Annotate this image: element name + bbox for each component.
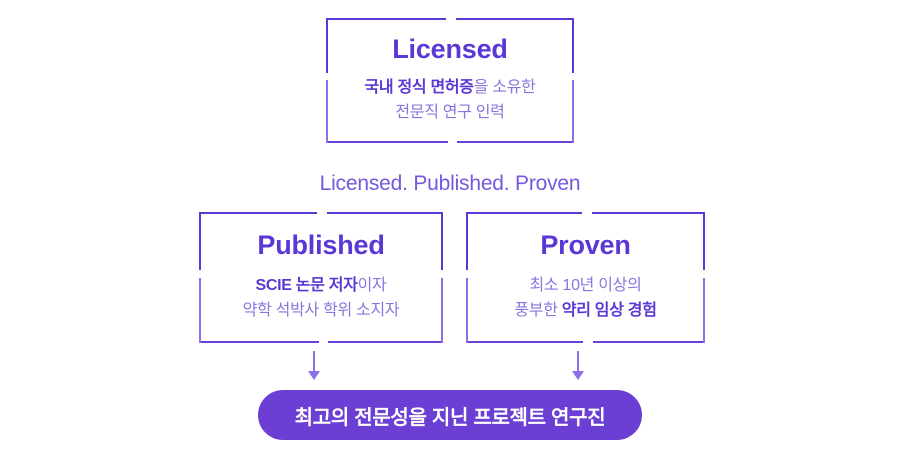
card-border-bottom-left: [326, 141, 448, 143]
arrow-shaft: [577, 351, 579, 373]
card-border-top-left: [466, 212, 582, 214]
card-proven: Proven 최소 10년 이상의 풍부한 약리 임상 경험: [466, 212, 705, 343]
tagline: Licensed. Published. Proven: [0, 172, 900, 196]
card-subtext-plain: 을 소유한: [474, 79, 536, 96]
card-subtext-plain: 풍부한: [514, 302, 561, 319]
card-border-top-left: [326, 18, 446, 20]
card-licensed: Licensed 국내 정식 면허증을 소유한 전문직 연구 인력: [326, 18, 574, 143]
card-subtext-emphasis: 국내 정식 면허증: [364, 79, 473, 96]
card-published: Published SCIE 논문 저자이자 약학 석박사 학위 소지자: [199, 212, 443, 343]
card-subtext-emphasis: SCIE 논문 저자: [256, 277, 358, 294]
card-border-bottom-left: [199, 341, 319, 343]
card-border-bottom-right: [593, 341, 705, 343]
card-subtext-proven: 최소 10년 이상의 풍부한 약리 임상 경험: [466, 274, 705, 324]
card-border-bottom-left: [466, 341, 583, 343]
result-pill-button[interactable]: 최고의 전문성을 지닌 프로젝트 연구진: [258, 390, 642, 440]
infographic-stage: Licensed 국내 정식 면허증을 소유한 전문직 연구 인력 Licens…: [0, 0, 900, 473]
card-subtext-plain: 이자: [358, 277, 387, 294]
card-border-top-right: [327, 212, 443, 214]
card-subtext-line2: 풍부한 약리 임상 경험: [466, 299, 705, 324]
card-border-bottom-right: [328, 341, 443, 343]
arrow-down-icon: [571, 351, 585, 381]
arrow-head: [308, 371, 320, 380]
card-title-published: Published: [199, 231, 443, 261]
card-subtext-line1: 최소 10년 이상의: [466, 274, 705, 299]
card-subtext-emphasis: 약리 임상 경험: [562, 302, 657, 319]
result-pill-label: 최고의 전문성을 지닌 프로젝트 연구진: [295, 401, 606, 430]
card-subtext-line2: 약학 석박사 학위 소지자: [199, 299, 443, 324]
card-title-proven: Proven: [466, 231, 705, 261]
card-title-licensed: Licensed: [326, 35, 574, 65]
card-subtext-line2: 전문직 연구 인력: [326, 101, 574, 126]
card-border-top-left: [199, 212, 317, 214]
arrow-down-icon: [307, 351, 321, 381]
arrow-shaft: [313, 351, 315, 373]
card-border-top-right: [456, 18, 574, 20]
card-subtext-published: SCIE 논문 저자이자 약학 석박사 학위 소지자: [199, 274, 443, 324]
card-border-top-right: [592, 212, 705, 214]
arrow-head: [572, 371, 584, 380]
card-border-bottom-right: [457, 141, 574, 143]
card-subtext-line1: 국내 정식 면허증을 소유한: [326, 76, 574, 101]
card-subtext-line1: SCIE 논문 저자이자: [199, 274, 443, 299]
card-subtext-licensed: 국내 정식 면허증을 소유한 전문직 연구 인력: [326, 76, 574, 126]
